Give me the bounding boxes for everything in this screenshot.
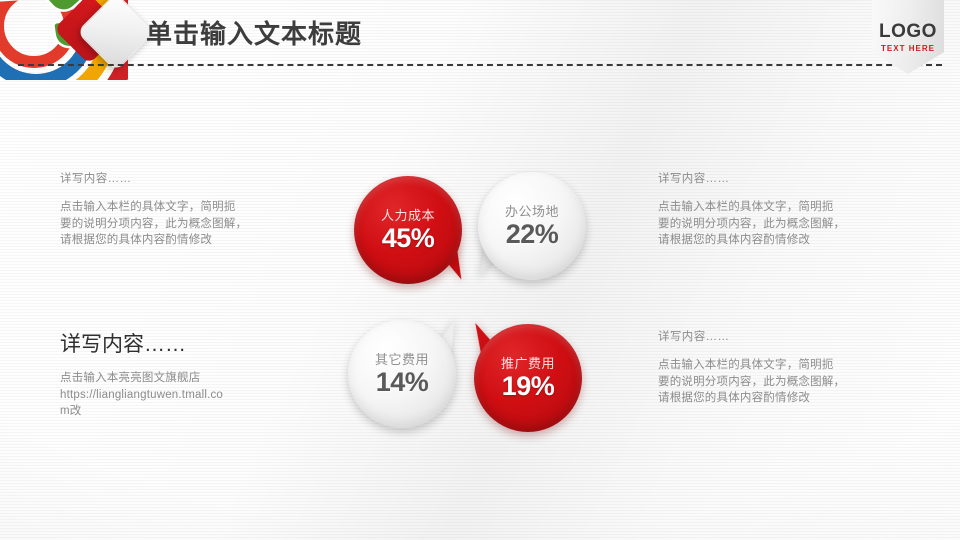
page-title: 单击输入文本标题 bbox=[146, 14, 362, 51]
text-block-heading: 详写内容…… bbox=[60, 170, 247, 186]
text-block-top-left: 详写内容…… 点击输入本栏的具体文字，简明扼 要的说明分项内容，此为概念图解， … bbox=[60, 170, 247, 249]
text-block-body: 点击输入本栏的具体文字，简明扼 要的说明分项内容，此为概念图解， 请根据您的具体… bbox=[658, 199, 845, 249]
bubble-body: 人力成本 45% bbox=[354, 176, 462, 284]
text-line: 点击输入本栏的具体文字，简明扼 bbox=[658, 357, 845, 374]
text-block-body: 点击输入本亮亮图文旗舰店 https://liangliangtuwen.tma… bbox=[60, 370, 223, 420]
bubble-body: 其它费用 14% bbox=[348, 320, 456, 428]
slide-header: 单击输入文本标题 LOGO TEXT HERE bbox=[0, 0, 960, 70]
text-block-heading: 详写内容…… bbox=[658, 170, 845, 186]
slide-canvas: 单击输入文本标题 LOGO TEXT HERE 详写内容…… 点击输入本栏的具体… bbox=[0, 0, 960, 540]
text-line: 要的说明分项内容，此为概念图解， bbox=[658, 216, 845, 233]
bubble-segment-3[interactable]: 推广费用 19% bbox=[474, 324, 582, 432]
pinwheel-bubble-chart: 人力成本 45% 办公场地 22% 其它费用 14% 推广费用 19% bbox=[330, 168, 630, 436]
segment-label: 其它费用 bbox=[375, 352, 429, 367]
logo-text: LOGO bbox=[872, 22, 944, 42]
text-line: 点击输入本亮亮图文旗舰店 bbox=[60, 370, 223, 387]
logo-ribbon: LOGO TEXT HERE bbox=[872, 0, 944, 74]
text-line: m改 bbox=[60, 403, 223, 420]
segment-label: 推广费用 bbox=[501, 356, 555, 371]
header-divider bbox=[18, 64, 942, 66]
text-line: 点击输入本栏的具体文字，简明扼 bbox=[658, 199, 845, 216]
text-block-heading: 详写内容…… bbox=[658, 328, 845, 344]
text-block-heading: 详写内容…… bbox=[60, 328, 223, 358]
text-line: 请根据您的具体内容酌情修改 bbox=[60, 232, 247, 249]
logo-subtext: TEXT HERE bbox=[872, 44, 944, 53]
segment-value: 19% bbox=[502, 371, 555, 401]
bubble-body: 推广费用 19% bbox=[474, 324, 582, 432]
text-block-body: 点击输入本栏的具体文字，简明扼 要的说明分项内容，此为概念图解， 请根据您的具体… bbox=[658, 357, 845, 407]
text-line-url: https://liangliangtuwen.tmall.co bbox=[60, 387, 223, 404]
text-line: 要的说明分项内容，此为概念图解， bbox=[658, 374, 845, 391]
bubble-body: 办公场地 22% bbox=[478, 172, 586, 280]
segment-value: 45% bbox=[382, 223, 435, 253]
text-line: 要的说明分项内容，此为概念图解， bbox=[60, 216, 247, 233]
text-block-bottom-left: 详写内容…… 点击输入本亮亮图文旗舰店 https://liangliangtu… bbox=[60, 328, 223, 420]
bubble-segment-0[interactable]: 人力成本 45% bbox=[354, 176, 462, 284]
text-line: 请根据您的具体内容酌情修改 bbox=[658, 390, 845, 407]
text-line: 请根据您的具体内容酌情修改 bbox=[658, 232, 845, 249]
segment-label: 办公场地 bbox=[505, 204, 559, 219]
text-line: 点击输入本栏的具体文字，简明扼 bbox=[60, 199, 247, 216]
bubble-segment-2[interactable]: 其它费用 14% bbox=[348, 320, 456, 428]
segment-value: 14% bbox=[376, 367, 429, 397]
text-block-bottom-right: 详写内容…… 点击输入本栏的具体文字，简明扼 要的说明分项内容，此为概念图解， … bbox=[658, 328, 845, 407]
text-block-top-right: 详写内容…… 点击输入本栏的具体文字，简明扼 要的说明分项内容，此为概念图解， … bbox=[658, 170, 845, 249]
text-block-body: 点击输入本栏的具体文字，简明扼 要的说明分项内容，此为概念图解， 请根据您的具体… bbox=[60, 199, 247, 249]
segment-value: 22% bbox=[506, 219, 559, 249]
bubble-segment-1[interactable]: 办公场地 22% bbox=[478, 172, 586, 280]
segment-label: 人力成本 bbox=[381, 208, 435, 223]
